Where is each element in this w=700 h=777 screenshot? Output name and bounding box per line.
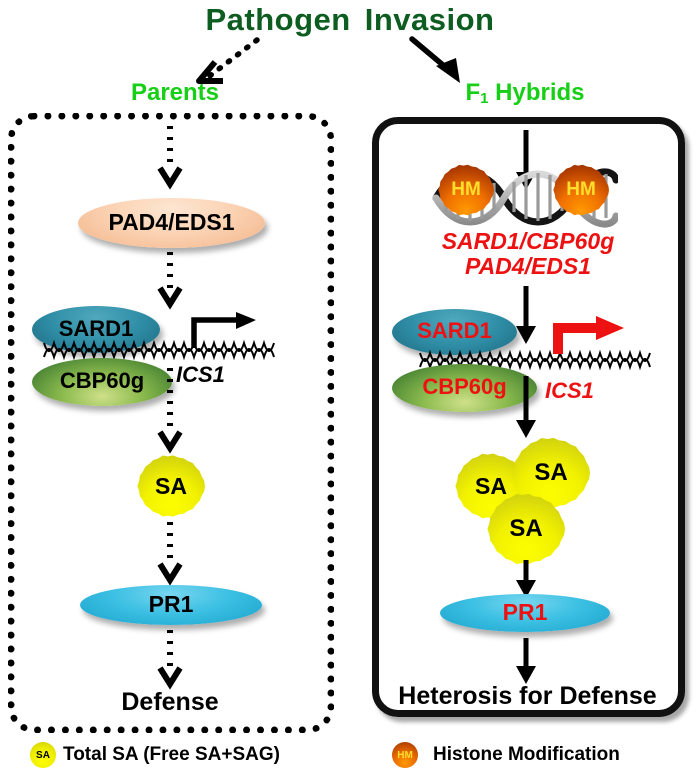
upregulated-gene-list: SARD1/CBP60g PAD4/EDS1: [378, 229, 678, 279]
transcription-arrow-right: [552, 316, 628, 356]
gene-list-line2: PAD4/EDS1: [378, 254, 678, 279]
hm-badge-label: HM: [397, 750, 413, 761]
hm-badge-icon: HM: [392, 742, 418, 768]
arrow-dna-to-sa-left: [156, 368, 184, 452]
node-sa-right-3-label: SA: [509, 515, 542, 543]
hybrid-f-label: F: [465, 79, 480, 106]
arrow-top-to-pad4: [156, 126, 184, 188]
figure-title-word1: Pathogen: [206, 2, 351, 37]
panel-heading-hybrids: F1 Hybrids: [410, 79, 640, 107]
gene-list-line1: SARD1/CBP60g: [378, 229, 678, 254]
node-pr1-right[interactable]: PR1: [440, 594, 610, 632]
sa-badge-label: SA: [36, 750, 50, 761]
arrow-pad4-to-sard1: [156, 252, 184, 308]
node-sa-right-1-label: SA: [475, 473, 507, 500]
gene-label-ics1-right: ICS1: [545, 378, 594, 404]
node-sa-left-label: SA: [155, 473, 187, 500]
hybrid-tail-label: Hybrids: [488, 79, 584, 106]
sa-badge-icon: SA: [30, 742, 56, 768]
arrow-pr1-to-defense: [156, 630, 184, 688]
histone-mark-right-label: HM: [566, 179, 596, 201]
node-pr1-left[interactable]: PR1: [80, 585, 262, 625]
legend-histone-modification-label: Histone Modification: [433, 744, 620, 766]
legend-total-sa-label: Total SA (Free SA+SAG): [63, 744, 280, 766]
legend-item-total-sa: SA Total SA (Free SA+SAG): [30, 742, 280, 768]
node-pad4-eds1-label: PAD4/EDS1: [108, 209, 234, 236]
arrow-dna-to-sa-right: [512, 376, 540, 442]
node-cbp60g-left-label: CBP60g: [60, 368, 144, 394]
node-cbp60g-left[interactable]: CBP60g: [32, 358, 172, 406]
arrow-pr1-to-heterosis: [512, 638, 540, 688]
node-pad4-eds1[interactable]: PAD4/EDS1: [78, 198, 265, 248]
node-pr1-right-label: PR1: [503, 599, 548, 626]
figure-title-word2: Invasion: [365, 2, 495, 37]
legend-item-histone-modification: HM Histone Modification: [392, 742, 620, 768]
node-sard1-right-label: SARD1: [417, 318, 492, 344]
outcome-heterosis: Heterosis for Defense: [375, 682, 680, 711]
outcome-defense: Defense: [30, 688, 310, 717]
node-cbp60g-right-label: CBP60g: [422, 374, 506, 400]
arrow-genelist-to-dna: [512, 286, 540, 348]
figure-title: PathogenInvasion: [0, 2, 700, 38]
transcription-arrow-left: [190, 312, 262, 350]
arrow-sa-to-pr1-left: [156, 522, 184, 584]
node-sa-right-2-label: SA: [534, 459, 567, 487]
node-pr1-left-label: PR1: [149, 591, 194, 618]
panel-heading-parents: Parents: [60, 79, 290, 107]
histone-mark-left-label: HM: [451, 179, 481, 201]
